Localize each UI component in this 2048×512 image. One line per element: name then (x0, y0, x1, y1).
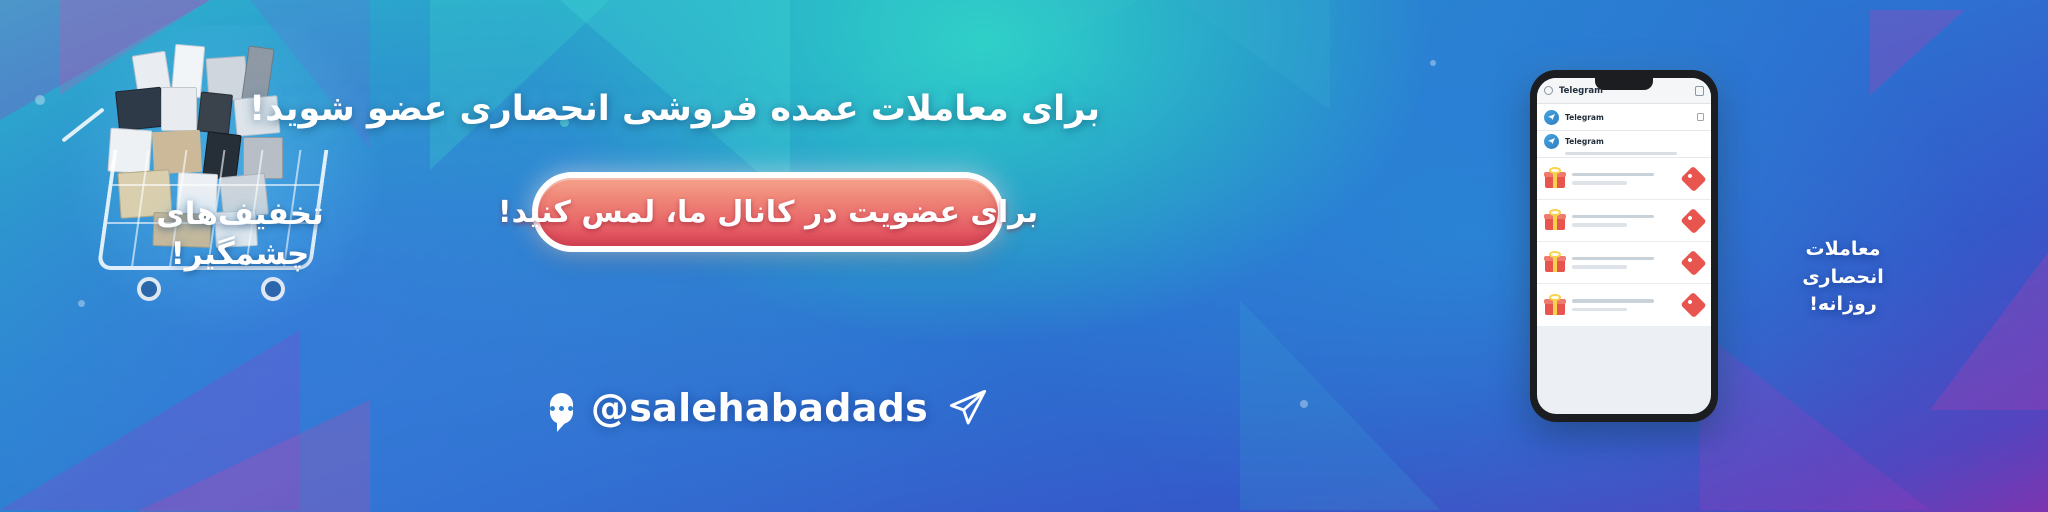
decor-polygon (1870, 10, 1965, 95)
telegram-chat-row[interactable]: Telegram (1537, 104, 1711, 131)
price-tag-icon (1684, 170, 1703, 188)
gift-icon (1545, 253, 1565, 272)
search-icon[interactable] (1544, 86, 1553, 95)
gift-icon (1545, 211, 1565, 230)
phone-mockup: Telegram Telegram Telegram (1530, 70, 1718, 422)
discount-text: تخفیف‌های چشمگیر! (140, 195, 340, 274)
join-channel-button[interactable]: برای عضویت در کانال ما، لمس کنید! (532, 172, 1004, 252)
list-item[interactable] (1537, 242, 1711, 284)
decor-polygon (120, 400, 370, 512)
cart-wheel (261, 277, 285, 301)
decor-dot (35, 95, 45, 105)
discount-line-1: تخفیف‌های (140, 195, 340, 235)
telegram-chat-name: Telegram (1565, 113, 1604, 122)
list-item-text (1572, 173, 1677, 185)
daily-deals-line-1: معاملات (1758, 236, 1928, 264)
gift-icon (1545, 296, 1565, 315)
decor-polygon (1180, 0, 1330, 110)
price-tag-icon (1684, 254, 1703, 272)
decor-polygon (1700, 330, 1930, 510)
daily-deals-line-2: انحصاری (1758, 264, 1928, 292)
telegram-chat-row[interactable]: Telegram (1537, 131, 1711, 158)
phone-notch (1595, 78, 1653, 90)
telegram-chat-name: Telegram (1565, 137, 1604, 146)
pin-icon[interactable] (1697, 113, 1704, 121)
telegram-avatar (1544, 110, 1559, 125)
menu-icon[interactable] (1695, 86, 1704, 96)
cart-wheel (137, 277, 161, 301)
telegram-handle-text: @salehabadads (591, 386, 928, 430)
list-item-text (1572, 257, 1677, 269)
daily-deals-line-3: روزانه! (1758, 291, 1928, 319)
product-box (197, 91, 233, 134)
list-item[interactable] (1537, 200, 1711, 242)
decor-dot (1300, 400, 1308, 408)
decor-dot (1430, 60, 1436, 66)
list-item-text (1572, 215, 1677, 227)
phone-screen: Telegram Telegram Telegram (1537, 78, 1711, 414)
telegram-avatar (1544, 134, 1559, 149)
product-box (115, 87, 165, 132)
speech-bubble-icon (550, 393, 573, 424)
telegram-handle-row[interactable]: @salehabadads (560, 382, 980, 434)
discount-line-2: چشمگیر! (140, 235, 340, 275)
price-tag-icon (1684, 296, 1703, 314)
page-title: برای معاملات عمده فروشی انحصاری عضو شوید… (380, 86, 1100, 133)
decor-polygon (1930, 250, 2048, 410)
gift-icon (1545, 169, 1565, 188)
join-channel-button-label: برای عضویت در کانال ما، لمس کنید! (498, 195, 1038, 230)
list-item[interactable] (1537, 158, 1711, 200)
product-box (161, 87, 197, 131)
decor-polygon (1240, 300, 1440, 510)
promo-banner: تخفیف‌های چشمگیر! برای معاملات عمده فروش… (0, 0, 2048, 512)
daily-deals-text: معاملات انحصاری روزانه! (1758, 236, 1928, 319)
telegram-preview-line (1565, 152, 1677, 155)
list-item-text (1572, 299, 1677, 311)
list-item[interactable] (1537, 284, 1711, 326)
price-tag-icon (1684, 212, 1703, 230)
telegram-plane-icon (946, 388, 990, 428)
